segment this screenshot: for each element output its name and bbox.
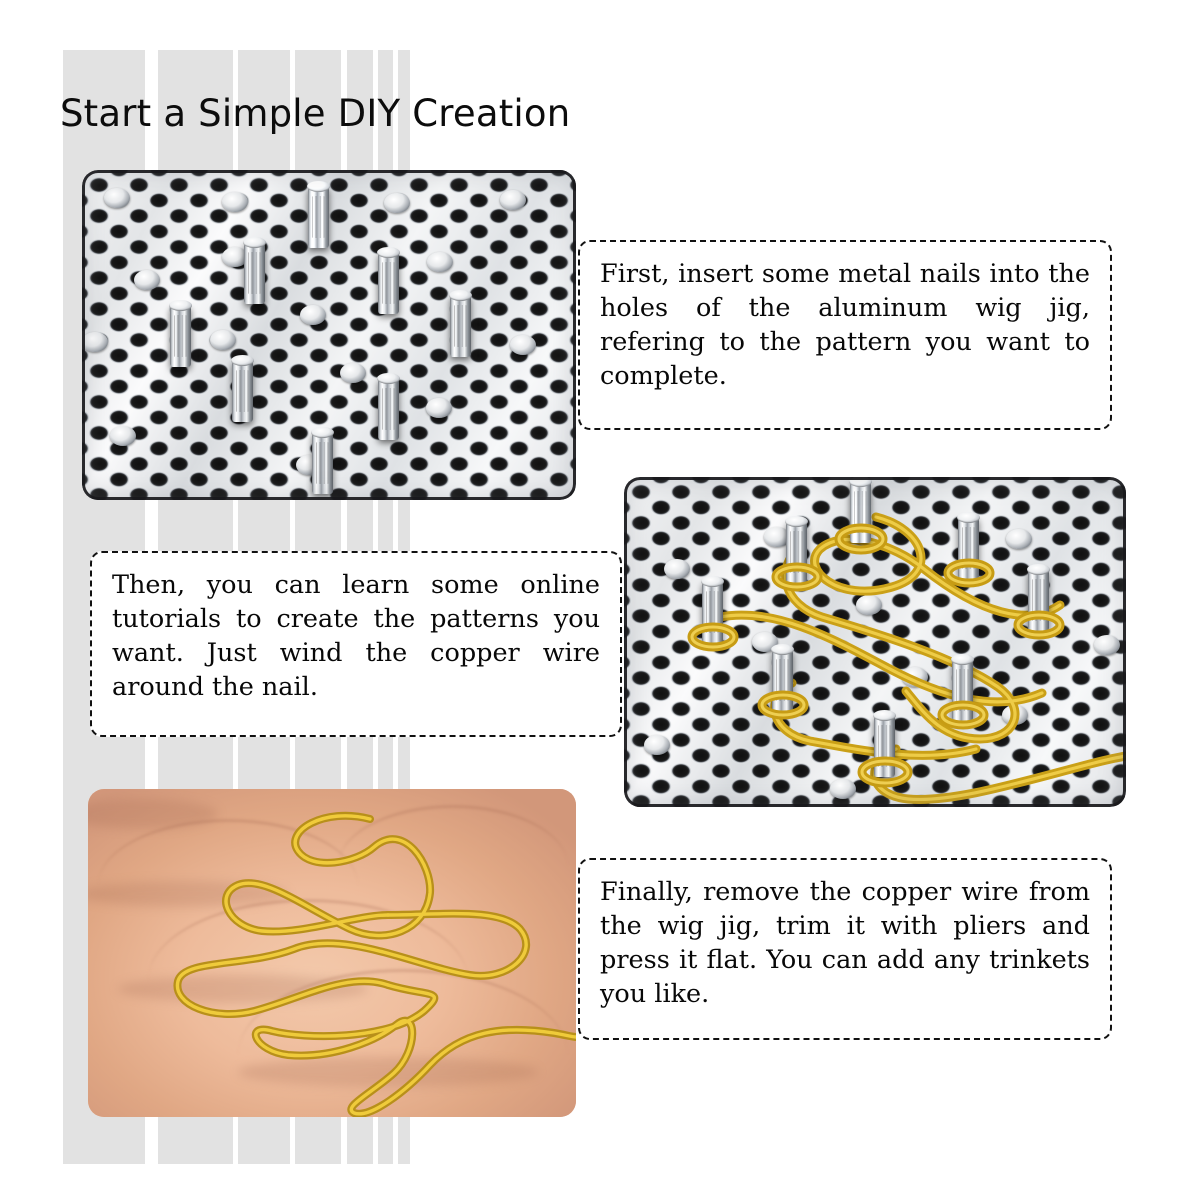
empty-hole-icon [104, 188, 130, 208]
metal-nail-peg [244, 242, 265, 304]
page-title: Start a Simple DIY Creation [60, 92, 570, 135]
metal-nail-peg [378, 252, 399, 314]
diy-instruction-page: Start a Simple DIY Creation [0, 0, 1200, 1200]
hand-holding-finished-wire-piece-photo [88, 789, 576, 1117]
aluminum-jig-board [82, 170, 576, 500]
empty-hole-icon [110, 426, 136, 446]
empty-hole-icon [82, 332, 108, 352]
metal-nail-peg [378, 378, 399, 440]
empty-hole-icon [300, 305, 326, 325]
callout-step-3: Finally, remove the copper wire from the… [578, 858, 1112, 1040]
finished-gold-wire-ornament [88, 789, 576, 1117]
empty-hole-icon [340, 363, 366, 383]
metal-nail-peg [170, 305, 191, 367]
callout-step-1: First, insert some metal nails into the … [578, 240, 1112, 430]
wig-jig-with-gold-wire-photo [624, 477, 1126, 807]
aluminum-jig-board [624, 477, 1126, 807]
empty-hole-icon [510, 335, 536, 355]
gold-wire-overlay [624, 477, 1126, 807]
metal-nail-peg [312, 432, 333, 494]
empty-hole-icon [134, 270, 160, 290]
empty-hole-icon [427, 252, 453, 272]
empty-hole-icon [500, 190, 526, 210]
empty-hole-icon [384, 193, 410, 213]
callout-step-2-text: Then, you can learn some online tutorial… [112, 569, 600, 705]
empty-hole-icon [426, 398, 452, 418]
metal-nail-peg [308, 186, 329, 248]
callout-step-3-text: Finally, remove the copper wire from the… [600, 876, 1090, 1012]
callout-step-2: Then, you can learn some online tutorial… [90, 551, 622, 737]
wig-jig-with-nails-photo [82, 170, 576, 500]
metal-nail-peg [450, 295, 471, 357]
empty-hole-icon [210, 330, 236, 350]
callout-step-1-text: First, insert some metal nails into the … [600, 258, 1090, 394]
metal-nail-peg [232, 360, 253, 422]
empty-hole-icon [222, 192, 248, 212]
open-palm-hand [88, 789, 576, 1117]
